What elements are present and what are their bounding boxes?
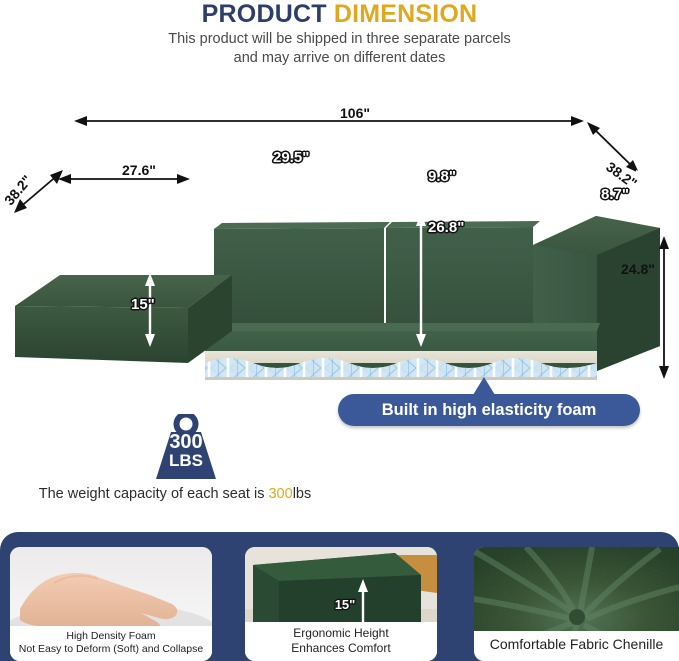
- dimension-label-overall-width: 106": [340, 106, 370, 120]
- feature-card-2-caption-line-1: Ergonomic Height: [247, 626, 435, 641]
- dimension-label-seat-back-height: 26.8": [428, 220, 464, 235]
- page-title: PRODUCT DIMENSION: [0, 0, 679, 28]
- dimension-label-seat-height: 15": [131, 297, 155, 312]
- foam-callout: Built in high elasticity foam: [338, 394, 640, 426]
- weight-badge-number: 300: [150, 432, 222, 452]
- title-dimension: DIMENSION: [334, 0, 477, 28]
- subtitle-line-2: and may arrive on different dates: [0, 49, 679, 68]
- feature-card-2-caption-line-2: Enhances Comfort: [247, 641, 435, 656]
- feature-card-3-caption: Comfortable Fabric Chenille: [474, 631, 679, 661]
- feature-card-ergonomic-height[interactable]: 15" Ergonomic Height Enhances Comfort: [245, 547, 437, 661]
- feature-card-2-caption: Ergonomic Height Enhances Comfort: [245, 622, 437, 661]
- page-subtitle: This product will be shipped in three se…: [0, 30, 679, 68]
- weight-caption-prefix: The weight capacity of each seat is: [39, 486, 269, 502]
- dimension-label-arm-width: 8.7": [601, 187, 629, 202]
- weight-caption: The weight capacity of each seat is 300l…: [0, 486, 350, 502]
- dimension-label-backrest-height: 9.8": [428, 169, 456, 184]
- feature-card-1-caption: High Density Foam Not Easy to Deform (So…: [10, 626, 212, 661]
- dimension-label-seat-width: 29.5": [273, 150, 309, 165]
- infographic-root: PRODUCT DIMENSION This product will be s…: [0, 0, 679, 661]
- feature-card-fabric-chenille[interactable]: Comfortable Fabric Chenille: [474, 547, 679, 661]
- subtitle-line-1: This product will be shipped in three se…: [0, 30, 679, 49]
- sofa-illustration: [0, 95, 679, 380]
- feature-card-high-density-foam[interactable]: High Density Foam Not Easy to Deform (So…: [10, 547, 212, 661]
- foam-callout-label: Built in high elasticity foam: [382, 401, 597, 420]
- sofa-diagram-svg: [0, 95, 679, 380]
- feature-card-1-caption-line-1: High Density Foam: [12, 630, 210, 643]
- weight-caption-suffix: lbs: [293, 486, 312, 502]
- title-product: PRODUCT: [202, 0, 334, 28]
- feature-card-2-overlay-dimension: 15": [335, 597, 356, 612]
- weight-badge-unit: LBS: [150, 452, 222, 469]
- dimension-label-chaise-width: 27.6": [122, 163, 156, 177]
- feature-card-1-caption-line-2: Not Easy to Deform (Soft) and Collapse: [12, 643, 210, 656]
- dimension-label-total-height: 24.8": [621, 262, 655, 276]
- feature-card-3-caption-line-1: Comfortable Fabric Chenille: [476, 635, 677, 653]
- weight-caption-value: 300: [268, 486, 292, 502]
